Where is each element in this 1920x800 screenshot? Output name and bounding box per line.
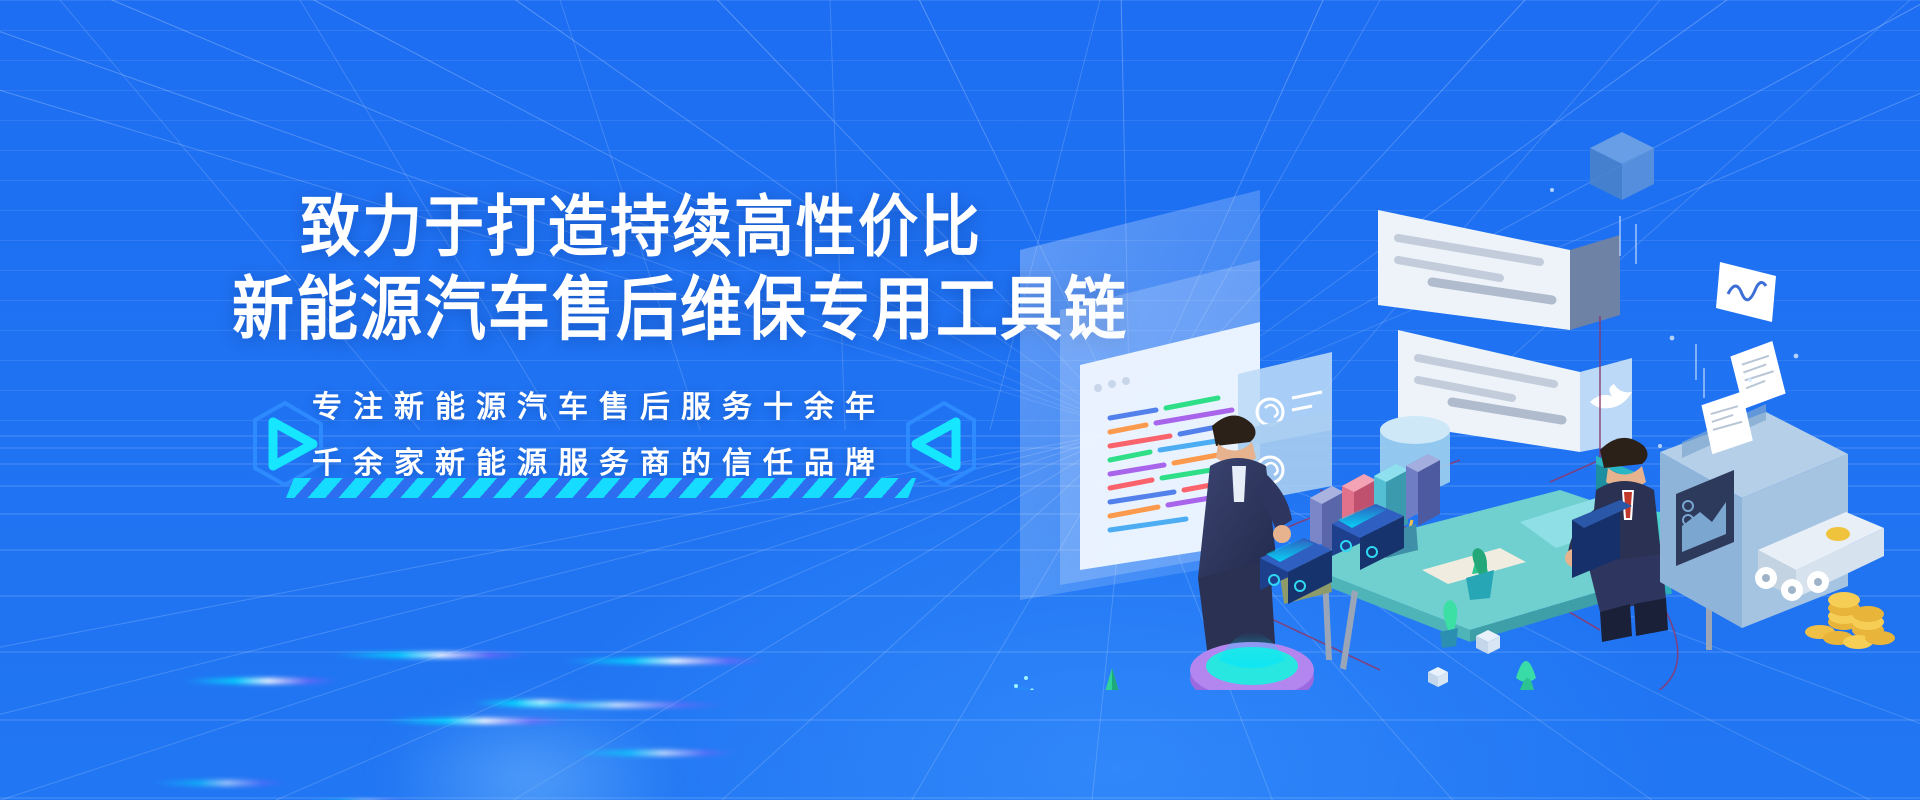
floating-cube-large bbox=[1590, 132, 1654, 200]
gold-coin-stack bbox=[1805, 592, 1895, 649]
cone-tree-1 bbox=[1096, 668, 1128, 690]
document-card-top bbox=[1378, 210, 1620, 330]
light-rods bbox=[1620, 216, 1704, 398]
cone-tree-2 bbox=[1516, 661, 1536, 690]
purple-platform-pad-small bbox=[986, 676, 1058, 690]
subtitle-line-1: 专注新能源汽车售后服务十余年 bbox=[312, 382, 886, 426]
isometric-office-illustration bbox=[960, 130, 1920, 690]
illustration-svg bbox=[960, 130, 1920, 690]
diagonal-stripe-bar bbox=[286, 478, 916, 498]
hero-banner: 致力于打造持续高性价比 新能源汽车售后维保专用工具链 专注新能源汽车售后服务十余… bbox=[0, 0, 1920, 800]
floating-cube-small-2 bbox=[1428, 667, 1448, 687]
subtitle-line-2: 千余家新能源服务商的信任品牌 bbox=[312, 438, 886, 482]
